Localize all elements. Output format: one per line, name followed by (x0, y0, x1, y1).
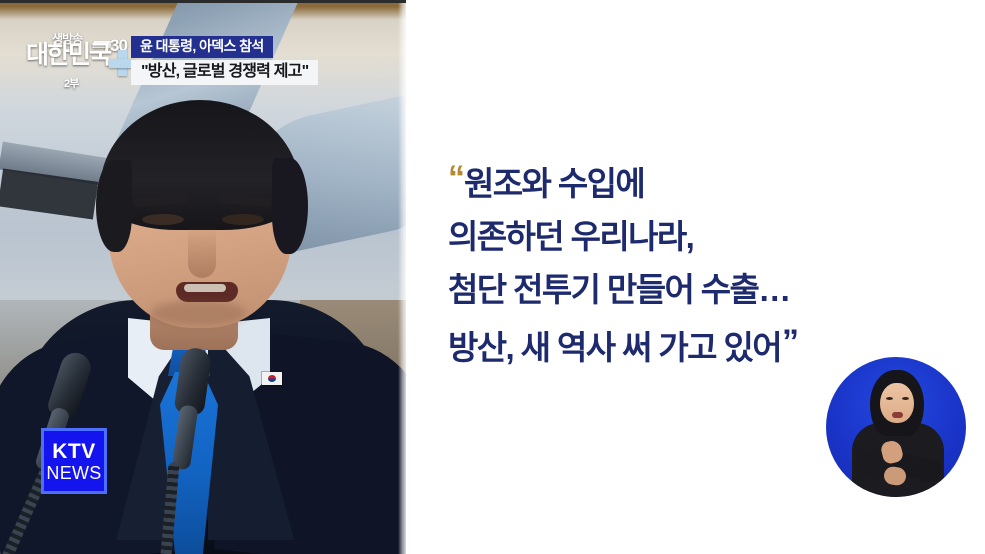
korean-flag-lapel-pin (262, 372, 282, 385)
eye-left (142, 214, 184, 225)
video-edge-fade (398, 0, 406, 554)
program-logo: 생방송 30 대한민국 2부 (26, 30, 134, 100)
hair-left-side (96, 160, 132, 252)
nose (188, 226, 216, 278)
interpreter-eye-right (902, 397, 909, 400)
close-quote-mark: ” (782, 323, 797, 361)
headline-primary: 윤 대통령, 아덱스 참석 (131, 36, 273, 58)
quote-line-1-text: 원조와 수입에 (464, 165, 644, 202)
interpreter-mouth (892, 412, 903, 418)
mouth (176, 282, 238, 302)
channel-logo-bug: KTV NEWS (41, 428, 107, 494)
chin-shadow (150, 300, 246, 326)
pull-quote: “원조와 수입에 의존하던 우리나라, 첨단 전투기 만들어 수출… 방산, 새… (448, 152, 968, 374)
quote-line-3: 첨단 전투기 만들어 수출… (448, 263, 968, 316)
teeth (184, 284, 226, 292)
headline-secondary: "방산, 글로벌 경쟁력 제고" (131, 60, 318, 86)
headline-banner-group: 윤 대통령, 아덱스 참석 "방산, 글로벌 경쟁력 제고" (131, 36, 318, 85)
quote-line-4-text: 방산, 새 역사 써 가고 있어 (448, 329, 781, 366)
quote-line-2: 의존하던 우리나라, (448, 210, 968, 263)
quote-line-1: “원조와 수입에 (448, 152, 968, 210)
hair-right-side (272, 158, 308, 254)
program-logo-title: 대한민국 (26, 43, 110, 68)
broadcast-screen: 생방송 30 대한민국 2부 윤 대통령, 아덱스 참석 "방산, 글로벌 경쟁… (0, 0, 985, 554)
channel-bug-line2: NEWS (46, 464, 101, 482)
eye-right (222, 214, 264, 225)
open-quote-mark: “ (448, 159, 463, 197)
interpreter-eye-left (886, 397, 893, 400)
sign-language-interpreter[interactable] (826, 357, 966, 497)
channel-bug-line1: KTV (52, 441, 96, 462)
program-logo-part: 2부 (64, 75, 78, 91)
video-feed-panel[interactable]: 생방송 30 대한민국 2부 윤 대통령, 아덱스 참석 "방산, 글로벌 경쟁… (0, 0, 406, 554)
taegeuk-symbol (268, 375, 276, 382)
